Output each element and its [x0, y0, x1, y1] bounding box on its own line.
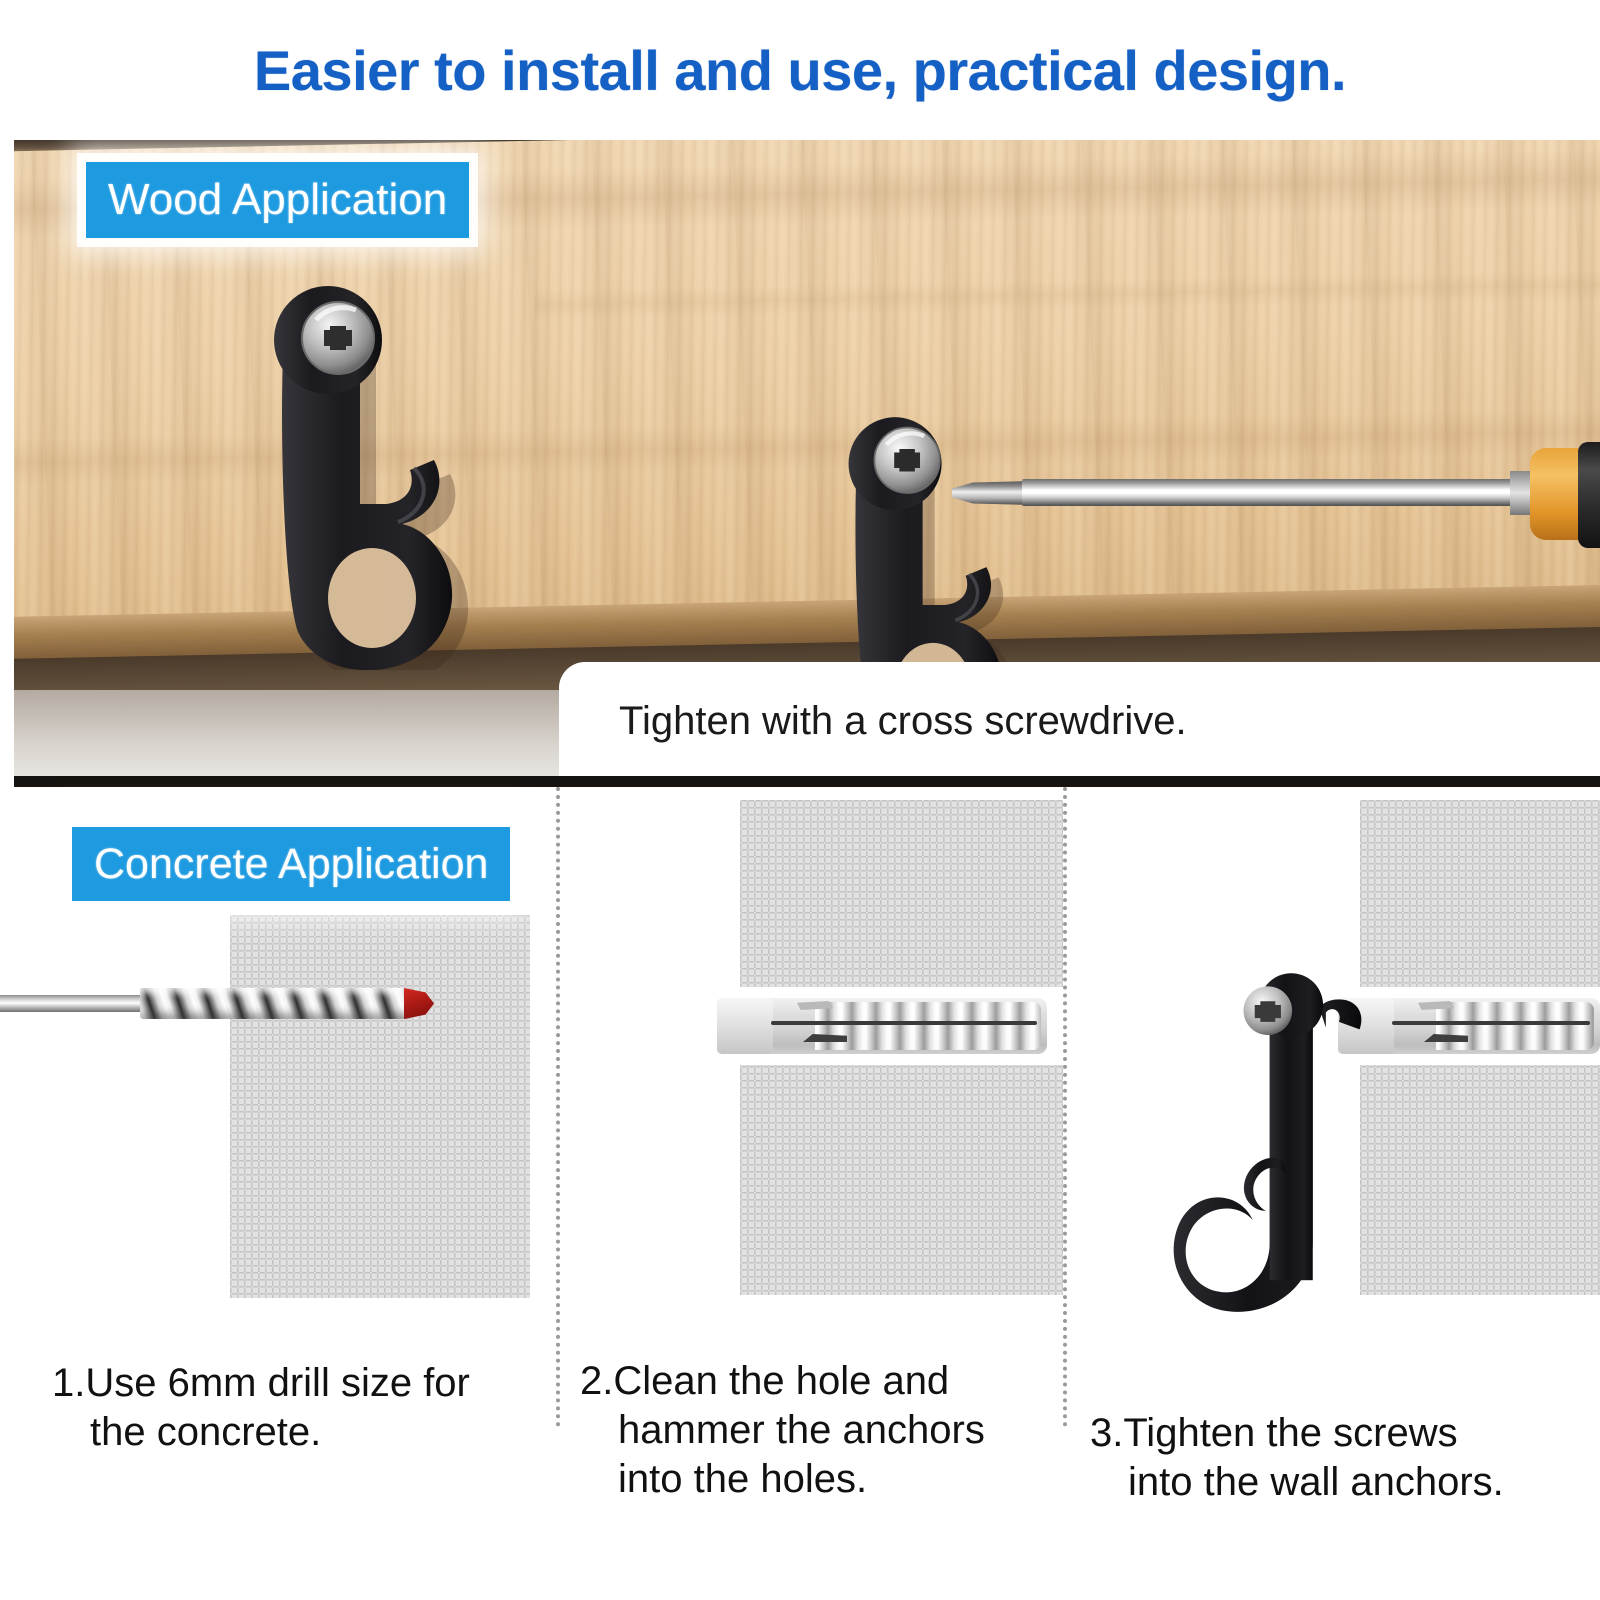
anchor-expansion-slit	[771, 1021, 1037, 1025]
drill-carbide-tip	[404, 988, 434, 1019]
step3-line1: 3.Tighten the screws	[1090, 1409, 1504, 1458]
drill-shank	[0, 995, 150, 1012]
page-title-bar: Easier to install and use, practical des…	[0, 0, 1600, 140]
wood-application-tag: Wood Application	[86, 162, 469, 238]
concrete-application-tag: Concrete Application	[72, 827, 510, 901]
wood-caption-text: Tighten with a cross screwdrive.	[619, 699, 1187, 744]
step1-line2: the concrete.	[52, 1408, 470, 1457]
concrete-block-step1	[230, 915, 530, 1298]
anchor-ribs	[815, 1002, 1041, 1050]
anchor-expansion-slit	[1392, 1021, 1590, 1025]
step1-line1: 1.Use 6mm drill size for	[52, 1359, 470, 1408]
drill-flute	[140, 988, 412, 1019]
page-title: Easier to install and use, practical des…	[254, 38, 1346, 103]
masonry-drill-bit	[0, 982, 440, 1024]
step2-line1: 2.Clean the hole and	[580, 1357, 985, 1406]
cross-screwdriver	[944, 440, 1600, 552]
step2-line2: hammer the anchors	[580, 1406, 985, 1455]
screwdriver-handle-black	[1578, 442, 1600, 548]
wood-caption-panel: Tighten with a cross screwdrive.	[559, 662, 1600, 780]
concrete-application-section: Concrete Application 1.Use 6mm drill siz…	[0, 787, 1600, 1600]
wood-application-tag-label: Wood Application	[108, 175, 447, 225]
step-caption-1: 1.Use 6mm drill size for the concrete.	[52, 1359, 470, 1457]
step-caption-2: 2.Clean the hole and hammer the anchors …	[580, 1357, 985, 1503]
wood-application-photo: Wood Application Tighten with a cross sc…	[14, 140, 1600, 780]
step2-line3: into the holes.	[580, 1455, 985, 1504]
anchor-collar	[717, 998, 773, 1054]
step3-line2: into the wall anchors.	[1090, 1458, 1504, 1507]
screwdriver-shaft	[1022, 479, 1522, 506]
wood-hook-left	[264, 280, 494, 670]
anchor-ribs	[1436, 1002, 1594, 1050]
concrete-hook-step3	[1165, 962, 1395, 1327]
concrete-application-tag-label: Concrete Application	[94, 840, 488, 889]
section-separator	[14, 776, 1600, 787]
panel-divider-1	[556, 787, 560, 1427]
wall-anchor-step2	[717, 998, 1047, 1054]
screwdriver-tip	[952, 481, 1032, 505]
step-caption-3: 3.Tighten the screws into the wall ancho…	[1090, 1409, 1504, 1507]
panel-divider-2	[1063, 787, 1067, 1427]
